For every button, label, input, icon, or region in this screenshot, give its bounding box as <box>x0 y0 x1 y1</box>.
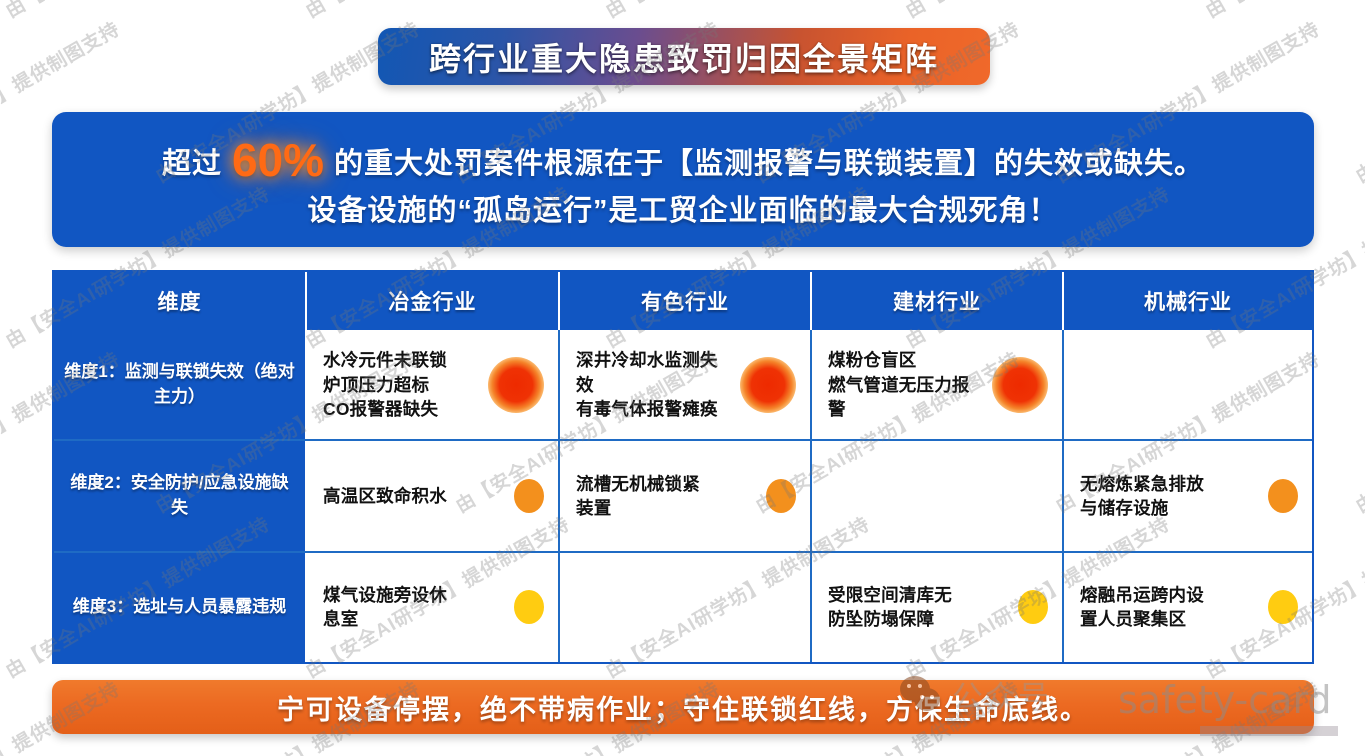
column-header-machinery: 机械行业 <box>1064 272 1312 330</box>
column-header-metallurgy: 冶金行业 <box>307 272 560 330</box>
key-finding-banner: 超过 60% 的重大处罚案件根源在于【监测报警与联锁装置】的失效或缺失。 设备设… <box>52 112 1314 247</box>
matrix-cell-building-materials <box>812 441 1064 550</box>
table-row: 维度2：安全防护/应急设施缺失 高温区致命积水 流槽无机械锁紧 装置 无熔炼紧急… <box>54 439 1312 550</box>
key-finding-prefix: 超过 <box>162 140 222 182</box>
infographic-page: 跨行业重大隐患致罚归因全景矩阵 超过 60% 的重大处罚案件根源在于【监测报警与… <box>0 0 1365 756</box>
page-title: 跨行业重大隐患致罚归因全景矩阵 <box>429 34 939 80</box>
column-header-nonferrous: 有色行业 <box>560 272 812 330</box>
footer-slogan-banner: 宁可设备停摆，绝不带病作业；守住联锁红线，方保生命底线。 <box>52 680 1314 734</box>
column-header-dimension: 维度 <box>54 272 307 330</box>
matrix-cell-text: 深井冷却水监测失效 有毒气体报警瘫痪 <box>576 348 732 420</box>
severity-dot-empty-icon <box>1268 370 1298 400</box>
severity-dot-orange-icon <box>514 479 544 513</box>
column-header-building-materials: 建材行业 <box>812 272 1064 330</box>
brand-underline <box>1200 726 1338 736</box>
table-row: 维度3：选址与人员暴露违规 煤气设施旁设休 息室 受限空间清库无 防坠防塌保障 … <box>54 551 1312 662</box>
severity-dot-yellow-icon <box>1018 590 1048 624</box>
matrix-cell-text: 水冷元件未联锁 炉顶压力超标 CO报警器缺失 <box>323 348 447 420</box>
table-row: 维度1：监测与联锁失效（绝对主力） 水冷元件未联锁 炉顶压力超标 CO报警器缺失… <box>54 330 1312 439</box>
severity-dot-red-icon <box>740 357 796 413</box>
matrix-cell-text: 受限空间清库无 防坠防塌保障 <box>828 583 952 631</box>
dimension-label: 维度3：选址与人员暴露违规 <box>54 553 307 662</box>
severity-dot-red-icon <box>488 357 544 413</box>
matrix-cell-metallurgy: 高温区致命积水 <box>307 441 560 550</box>
page-title-banner: 跨行业重大隐患致罚归因全景矩阵 <box>378 28 990 85</box>
matrix-cell-text: 无熔炼紧急排放 与储存设施 <box>1080 472 1204 520</box>
severity-dot-yellow-icon <box>514 590 544 624</box>
risk-matrix-table: 维度 冶金行业 有色行业 建材行业 机械行业 维度1：监测与联锁失效（绝对主力）… <box>52 270 1314 664</box>
key-finding-line-1: 超过 60% 的重大处罚案件根源在于【监测报警与联锁装置】的失效或缺失。 <box>162 130 1204 184</box>
severity-dot-orange-icon <box>766 479 796 513</box>
matrix-cell-machinery: 无熔炼紧急排放 与储存设施 <box>1064 441 1312 550</box>
matrix-cell-text: 煤气设施旁设休 息室 <box>323 583 447 631</box>
severity-dot-yellow-icon <box>1268 590 1298 624</box>
matrix-cell-metallurgy: 水冷元件未联锁 炉顶压力超标 CO报警器缺失 <box>307 330 560 439</box>
dimension-label: 维度2：安全防护/应急设施缺失 <box>54 441 307 550</box>
dimension-label: 维度1：监测与联锁失效（绝对主力） <box>54 330 307 439</box>
matrix-cell-nonferrous: 深井冷却水监测失效 有毒气体报警瘫痪 <box>560 330 812 439</box>
matrix-cell-nonferrous: 流槽无机械锁紧 装置 <box>560 441 812 550</box>
matrix-cell-machinery <box>1064 330 1312 439</box>
footer-slogan: 宁可设备停摆，绝不带病作业；守住联锁红线，方保生命底线。 <box>277 688 1089 727</box>
table-header-row: 维度 冶金行业 有色行业 建材行业 机械行业 <box>54 272 1312 330</box>
severity-dot-orange-icon <box>1268 479 1298 513</box>
matrix-cell-text: 高温区致命积水 <box>323 484 447 508</box>
key-finding-line-2: 设备设施的“孤岛运行”是工贸企业面临的最大合规死角！ <box>307 187 1058 229</box>
matrix-cell-text: 熔融吊运跨内设 置人员聚集区 <box>1080 583 1204 631</box>
severity-dot-empty-icon <box>1018 481 1048 511</box>
key-finding-statistic: 60% <box>222 133 334 187</box>
key-finding-secondary-text: 设备设施的“孤岛运行”是工贸企业面临的最大合规死角！ <box>307 187 1058 229</box>
matrix-cell-building-materials: 受限空间清库无 防坠防塌保障 <box>812 553 1064 662</box>
severity-dot-empty-icon <box>766 592 796 622</box>
matrix-cell-metallurgy: 煤气设施旁设休 息室 <box>307 553 560 662</box>
key-finding-suffix: 的重大处罚案件根源在于【监测报警与联锁装置】的失效或缺失。 <box>334 140 1204 182</box>
matrix-cell-text: 煤粉仓盲区 燃气管道无压力报警 <box>828 348 984 420</box>
matrix-cell-building-materials: 煤粉仓盲区 燃气管道无压力报警 <box>812 330 1064 439</box>
severity-dot-red-icon <box>992 357 1048 413</box>
matrix-cell-nonferrous <box>560 553 812 662</box>
matrix-cell-machinery: 熔融吊运跨内设 置人员聚集区 <box>1064 553 1312 662</box>
matrix-cell-text: 流槽无机械锁紧 装置 <box>576 472 700 520</box>
